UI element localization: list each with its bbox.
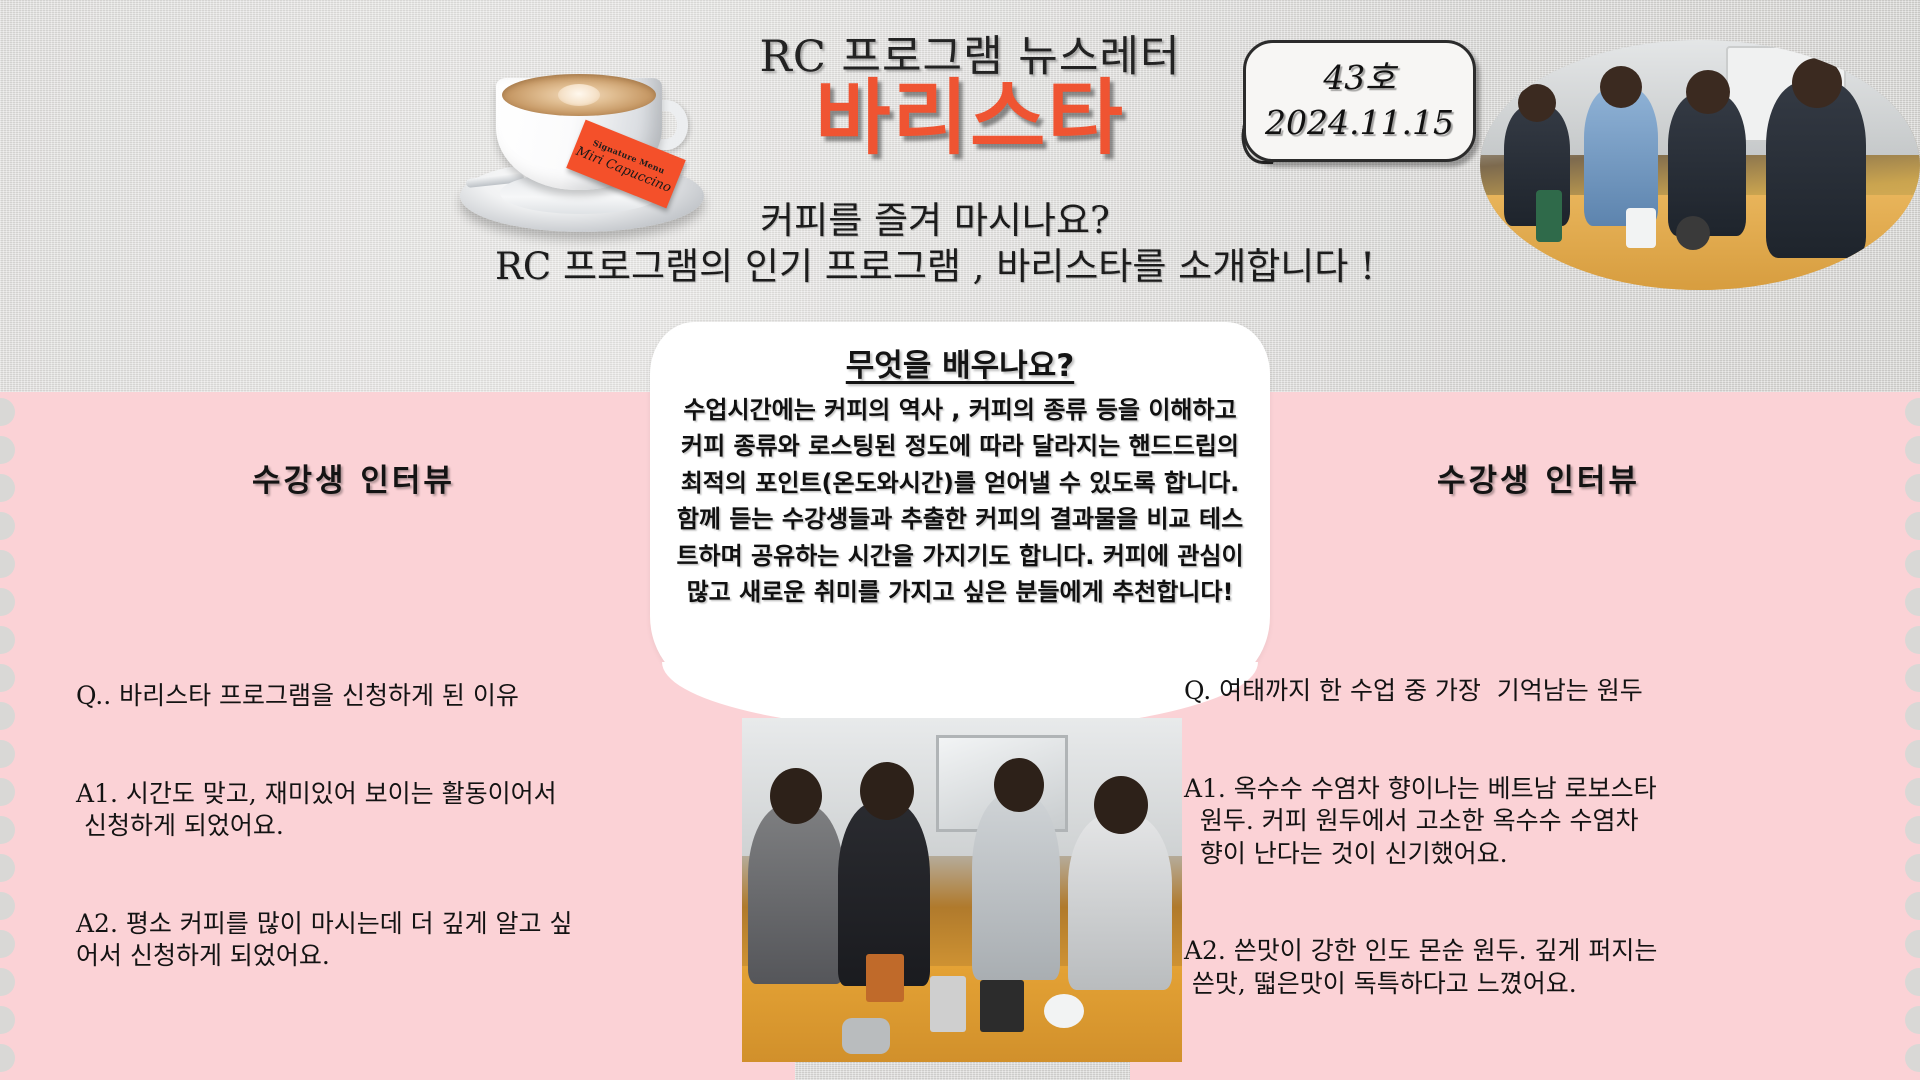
photo-bottom-person-4-head [1094,776,1148,834]
tagline-line-2: RC 프로그램의 인기 프로그램 , 바리스타를 소개합니다 ! [430,244,1440,290]
photo-bottom-cup-shape [1044,994,1084,1028]
left-q1-a2: A2. 평소 커피를 많이 마시는데 더 깊게 알고 싶 어서 신청하게 되었어… [76,908,696,973]
what-you-learn-body: 수업시간에는 커피의 역사 , 커피의 종류 등을 이해하고 커피 종류와 로스… [674,392,1246,611]
photo-person-1-head [1518,84,1556,122]
what-you-learn-heading: 무엇을 배우나요? [650,340,1270,385]
photo-bottom-person-2-head [860,762,914,820]
right-qa-group-1: Q. 여태까지 한 수업 중 가장 기억남는 원두 A1. 옥수수 수염차 향이… [1176,610,1876,1065]
photo-person-4-head [1792,58,1842,108]
photo-class-activity-top-right [1480,40,1920,290]
photo-bottom-server-shape [842,1018,890,1054]
right-q1-a2: A2. 쓴맛이 강한 인도 몬순 원두. 깊게 퍼지는 쓴맛, 떫은맛이 독특하… [1176,935,1876,1000]
latte-art-shape [558,84,600,106]
photo-grinder-shape [1536,190,1562,242]
left-interview-heading: 수강생 인터뷰 [252,455,455,500]
issue-date: 2024.11.15 [1265,101,1454,146]
left-q1-a1: A1. 시간도 맞고, 재미있어 보이는 활동이어서 신청하게 되었어요. [76,778,696,843]
photo-person-4 [1766,82,1866,258]
right-interview-qa: Q. 여태까지 한 수업 중 가장 기억남는 원두 A1. 옥수수 수염차 향이… [1176,545,1876,1080]
photo-dripper-shape [1626,208,1656,248]
left-q1: Q.. 바리스타 프로그램을 신청하게 된 이유 [76,680,696,713]
photo-bottom-person-3-head [994,758,1044,812]
left-scalloped-edge [0,392,26,1080]
photo-person-2 [1584,88,1658,226]
photo-person-3-head [1686,70,1730,114]
tagline: 커피를 즐겨 마시나요? RC 프로그램의 인기 프로그램 , 바리스타를 소개… [430,198,1440,291]
left-interview-qa: Q.. 바리스타 프로그램을 신청하게 된 이유 A1. 시간도 맞고, 재미있… [76,550,696,1080]
brand-title: 바리스타 [690,78,1250,160]
tagline-line-1: 커피를 즐겨 마시나요? [760,199,1110,242]
right-q1: Q. 여태까지 한 수업 중 가장 기억남는 원두 [1176,675,1876,708]
newsletter-poster: Signature Menu Miri Capuccino RC 프로그램 뉴스… [0,0,1920,1080]
right-scalloped-edge [1894,392,1920,1080]
right-interview-heading: 수강생 인터뷰 [1437,455,1640,500]
left-qa-group-1: Q.. 바리스타 프로그램을 신청하게 된 이유 A1. 시간도 맞고, 재미있… [76,615,696,1038]
photo-handdrip-session-bottom [742,718,1182,1062]
photo-person-3 [1668,94,1746,236]
photo-bottom-person-1 [748,804,844,984]
photo-bottom-person-4 [1068,814,1172,990]
issue-number: 43호 [1323,56,1395,101]
photo-bottom-kettle-shape [980,980,1024,1032]
issue-speech-bubble: 43호 2024.11.15 [1243,40,1476,162]
photo-person-2-head [1600,66,1642,108]
right-q1-a1: A1. 옥수수 수염차 향이나는 베트남 로보스타 원두. 커피 원두에서 고소… [1176,773,1876,871]
photo-bottom-person-1-head [770,768,822,824]
photo-bottom-dripper-shape [866,954,904,1002]
photo-bottom-carafe-shape [930,976,966,1032]
photo-kettle-shape [1676,216,1710,250]
photo-bottom-person-3 [972,794,1060,980]
